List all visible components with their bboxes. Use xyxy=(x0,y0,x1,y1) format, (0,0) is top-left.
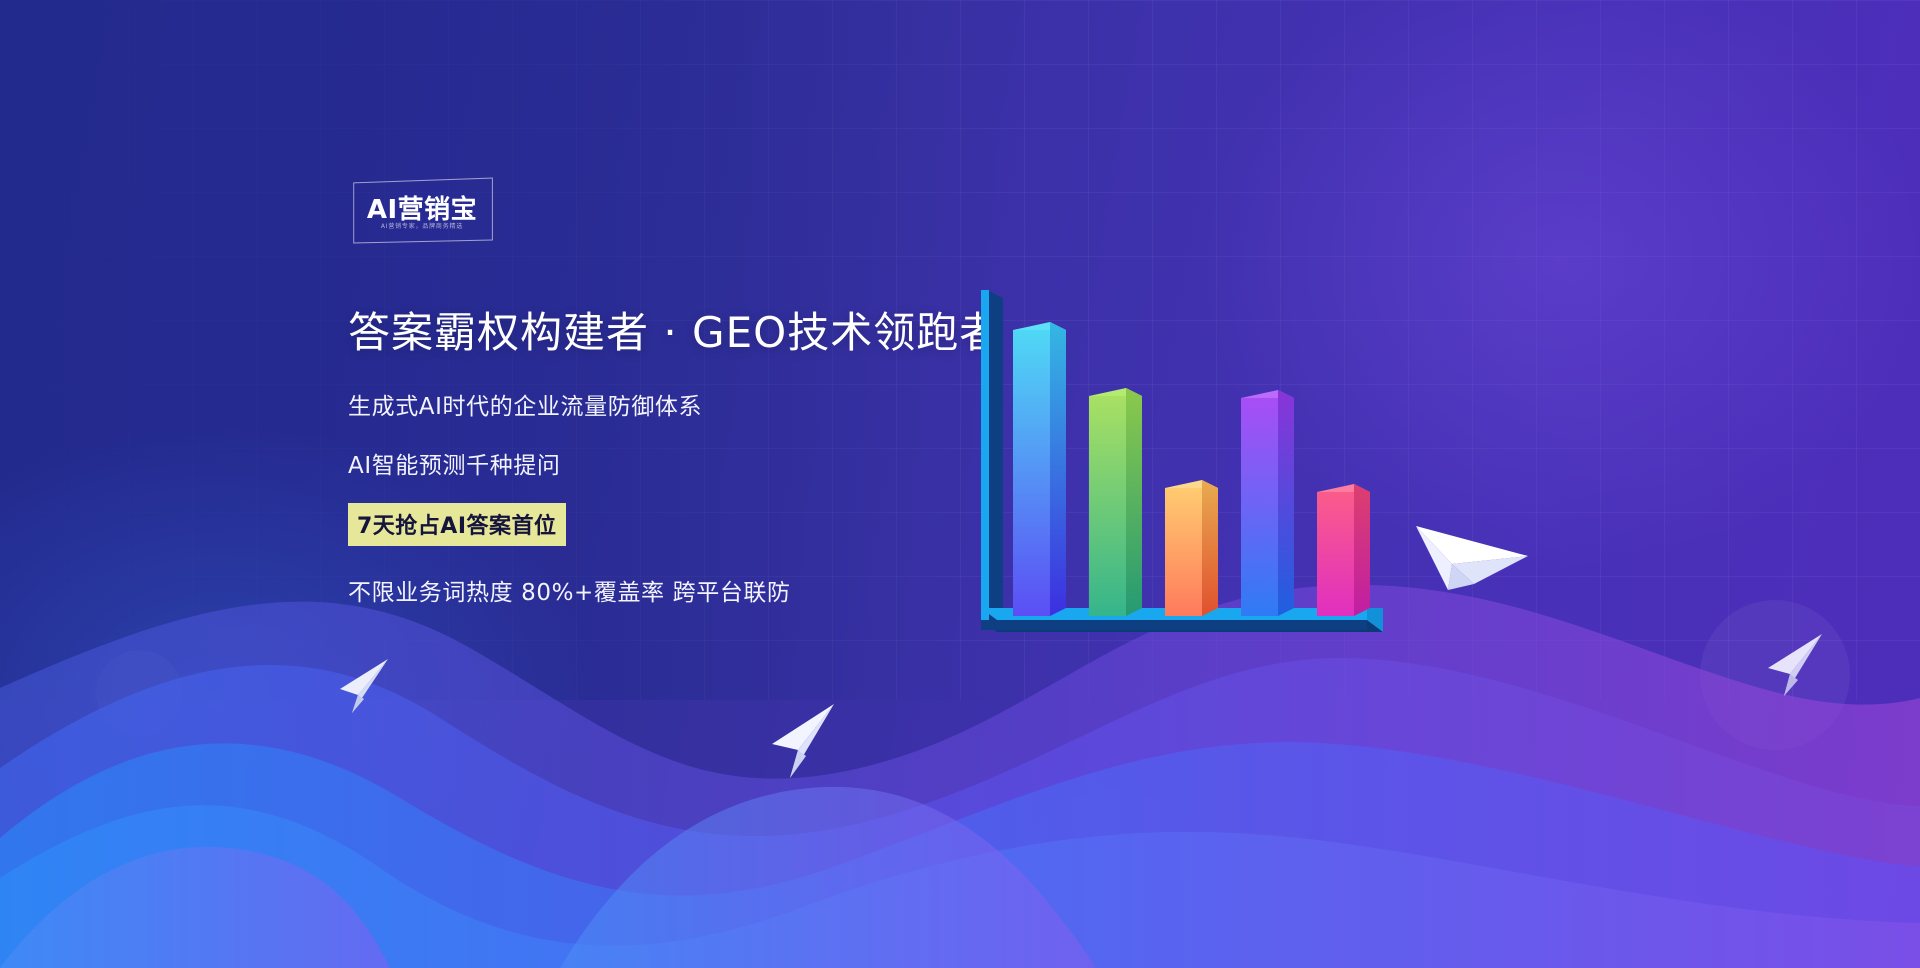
page-title: 答案霸权构建者 · GEO技术领跑者 xyxy=(348,308,1008,358)
paper-plane-small-mid-icon xyxy=(760,700,838,782)
chart-y-axis-side xyxy=(987,290,1003,626)
chart-bar-4 xyxy=(1241,390,1294,616)
hero-subtitle-2: AI智能预测千种提问 xyxy=(348,446,1008,480)
paper-plane-small-right-icon xyxy=(1760,630,1826,700)
paper-plane-large-icon xyxy=(1412,508,1532,608)
chart-bar-5 xyxy=(1317,484,1370,616)
hero-highlight-row: 7天抢占AI答案首位 xyxy=(348,503,1008,546)
hero-subtitle-1: 生成式AI时代的企业流量防御体系 xyxy=(348,387,1008,421)
chart-bar-1 xyxy=(1013,322,1066,616)
chart-x-axis-front xyxy=(981,620,1367,630)
chart-y-axis xyxy=(981,290,989,620)
logo-tagline: AI营销专家，品牌商务精选 xyxy=(352,221,492,230)
hero-subtitle-3: 不限业务词热度 80%+覆盖率 跨平台联防 xyxy=(348,573,1008,607)
chart-bar-3 xyxy=(1165,480,1218,616)
paper-plane-small-left-icon xyxy=(330,655,392,715)
hero-banner: AI营销宝 AI营销专家，品牌商务精选 答案霸权构建者 · GEO技术领跑者 生… xyxy=(0,0,1920,968)
chart-bar-2 xyxy=(1089,388,1142,616)
brand-logo[interactable]: AI营销宝 AI营销专家，品牌商务精选 xyxy=(352,180,492,242)
hero-highlight-badge: 7天抢占AI答案首位 xyxy=(348,503,566,546)
bar-chart-illustration xyxy=(975,290,1455,680)
hero-copy: 答案霸权构建者 · GEO技术领跑者 生成式AI时代的企业流量防御体系 AI智能… xyxy=(348,308,1008,607)
